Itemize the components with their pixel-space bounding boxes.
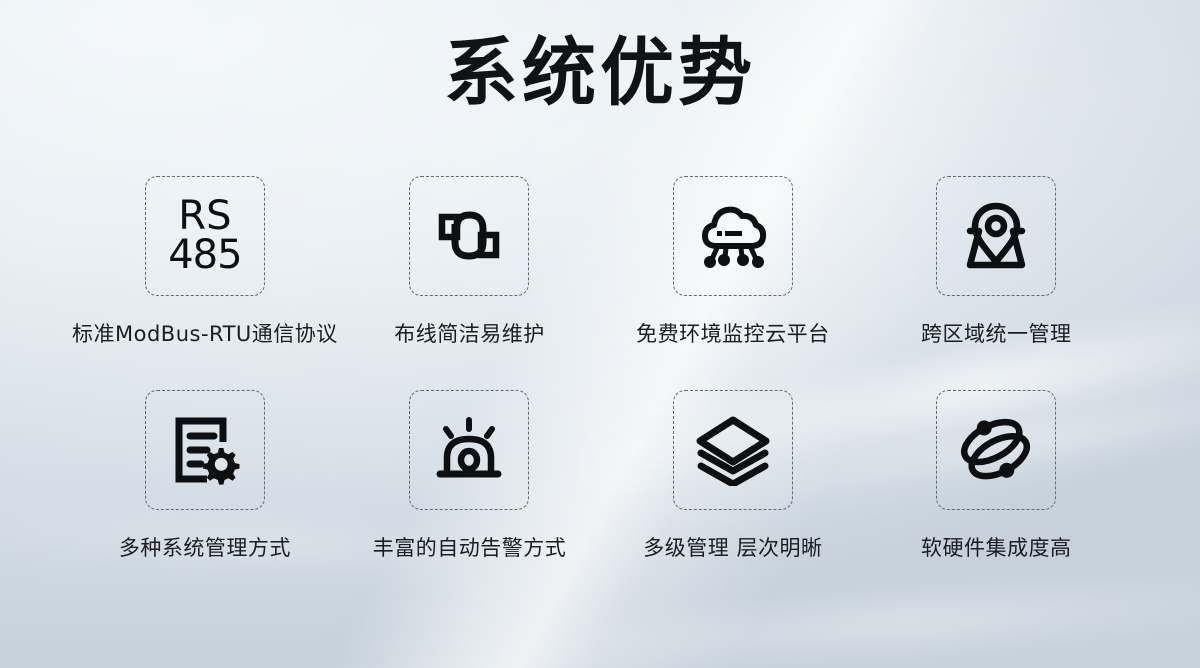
rs485-line1: RS — [168, 197, 241, 236]
feature-label: 跨区域统一管理 — [921, 318, 1072, 348]
feature-label: 多级管理 层次明晰 — [643, 532, 822, 562]
document-gear-icon — [167, 412, 243, 488]
cloud-network-icon — [693, 198, 773, 274]
feature-item-cabling: 布线简洁易维护 — [338, 176, 601, 348]
orbit-icon-box — [936, 390, 1056, 510]
feature-label: 标准ModBus-RTU通信协议 — [72, 318, 338, 348]
map-pin-icon-box — [936, 176, 1056, 296]
advantages-page: 系统优势 RS 485 标准ModBus-RTU通信协议 — [0, 0, 1200, 668]
rs485-icon-text: RS 485 — [168, 197, 241, 275]
feature-item-layers: 多级管理 层次明晰 — [601, 390, 864, 562]
rs485-line2: 485 — [168, 236, 241, 275]
map-pin-icon — [957, 197, 1035, 275]
page-title: 系统优势 — [0, 36, 1200, 110]
background-sheen-3 — [430, 574, 1200, 668]
layers-icon — [692, 414, 774, 486]
cable-icon — [431, 198, 507, 274]
rs485-icon: RS 485 — [145, 176, 265, 296]
feature-item-rs485: RS 485 标准ModBus-RTU通信协议 — [72, 176, 338, 348]
feature-item-alarm: 丰富的自动告警方式 — [338, 390, 601, 562]
cable-icon-box — [409, 176, 529, 296]
feature-label: 多种系统管理方式 — [119, 532, 291, 562]
alarm-siren-icon-box — [409, 390, 529, 510]
document-gear-icon-box — [145, 390, 265, 510]
feature-item-cloud: 免费环境监控云平台 — [601, 176, 864, 348]
alarm-siren-icon — [429, 412, 509, 488]
layers-icon-box — [673, 390, 793, 510]
feature-label: 丰富的自动告警方式 — [373, 532, 567, 562]
orbit-icon — [956, 410, 1036, 490]
feature-item-management: 多种系统管理方式 — [72, 390, 338, 562]
feature-label: 布线简洁易维护 — [394, 318, 545, 348]
feature-item-region: 跨区域统一管理 — [865, 176, 1128, 348]
cloud-network-icon-box — [673, 176, 793, 296]
feature-item-integration: 软硬件集成度高 — [865, 390, 1128, 562]
feature-label: 软硬件集成度高 — [921, 532, 1072, 562]
feature-label: 免费环境监控云平台 — [636, 318, 830, 348]
feature-grid: RS 485 标准ModBus-RTU通信协议 布线简洁易维护 — [72, 176, 1128, 562]
